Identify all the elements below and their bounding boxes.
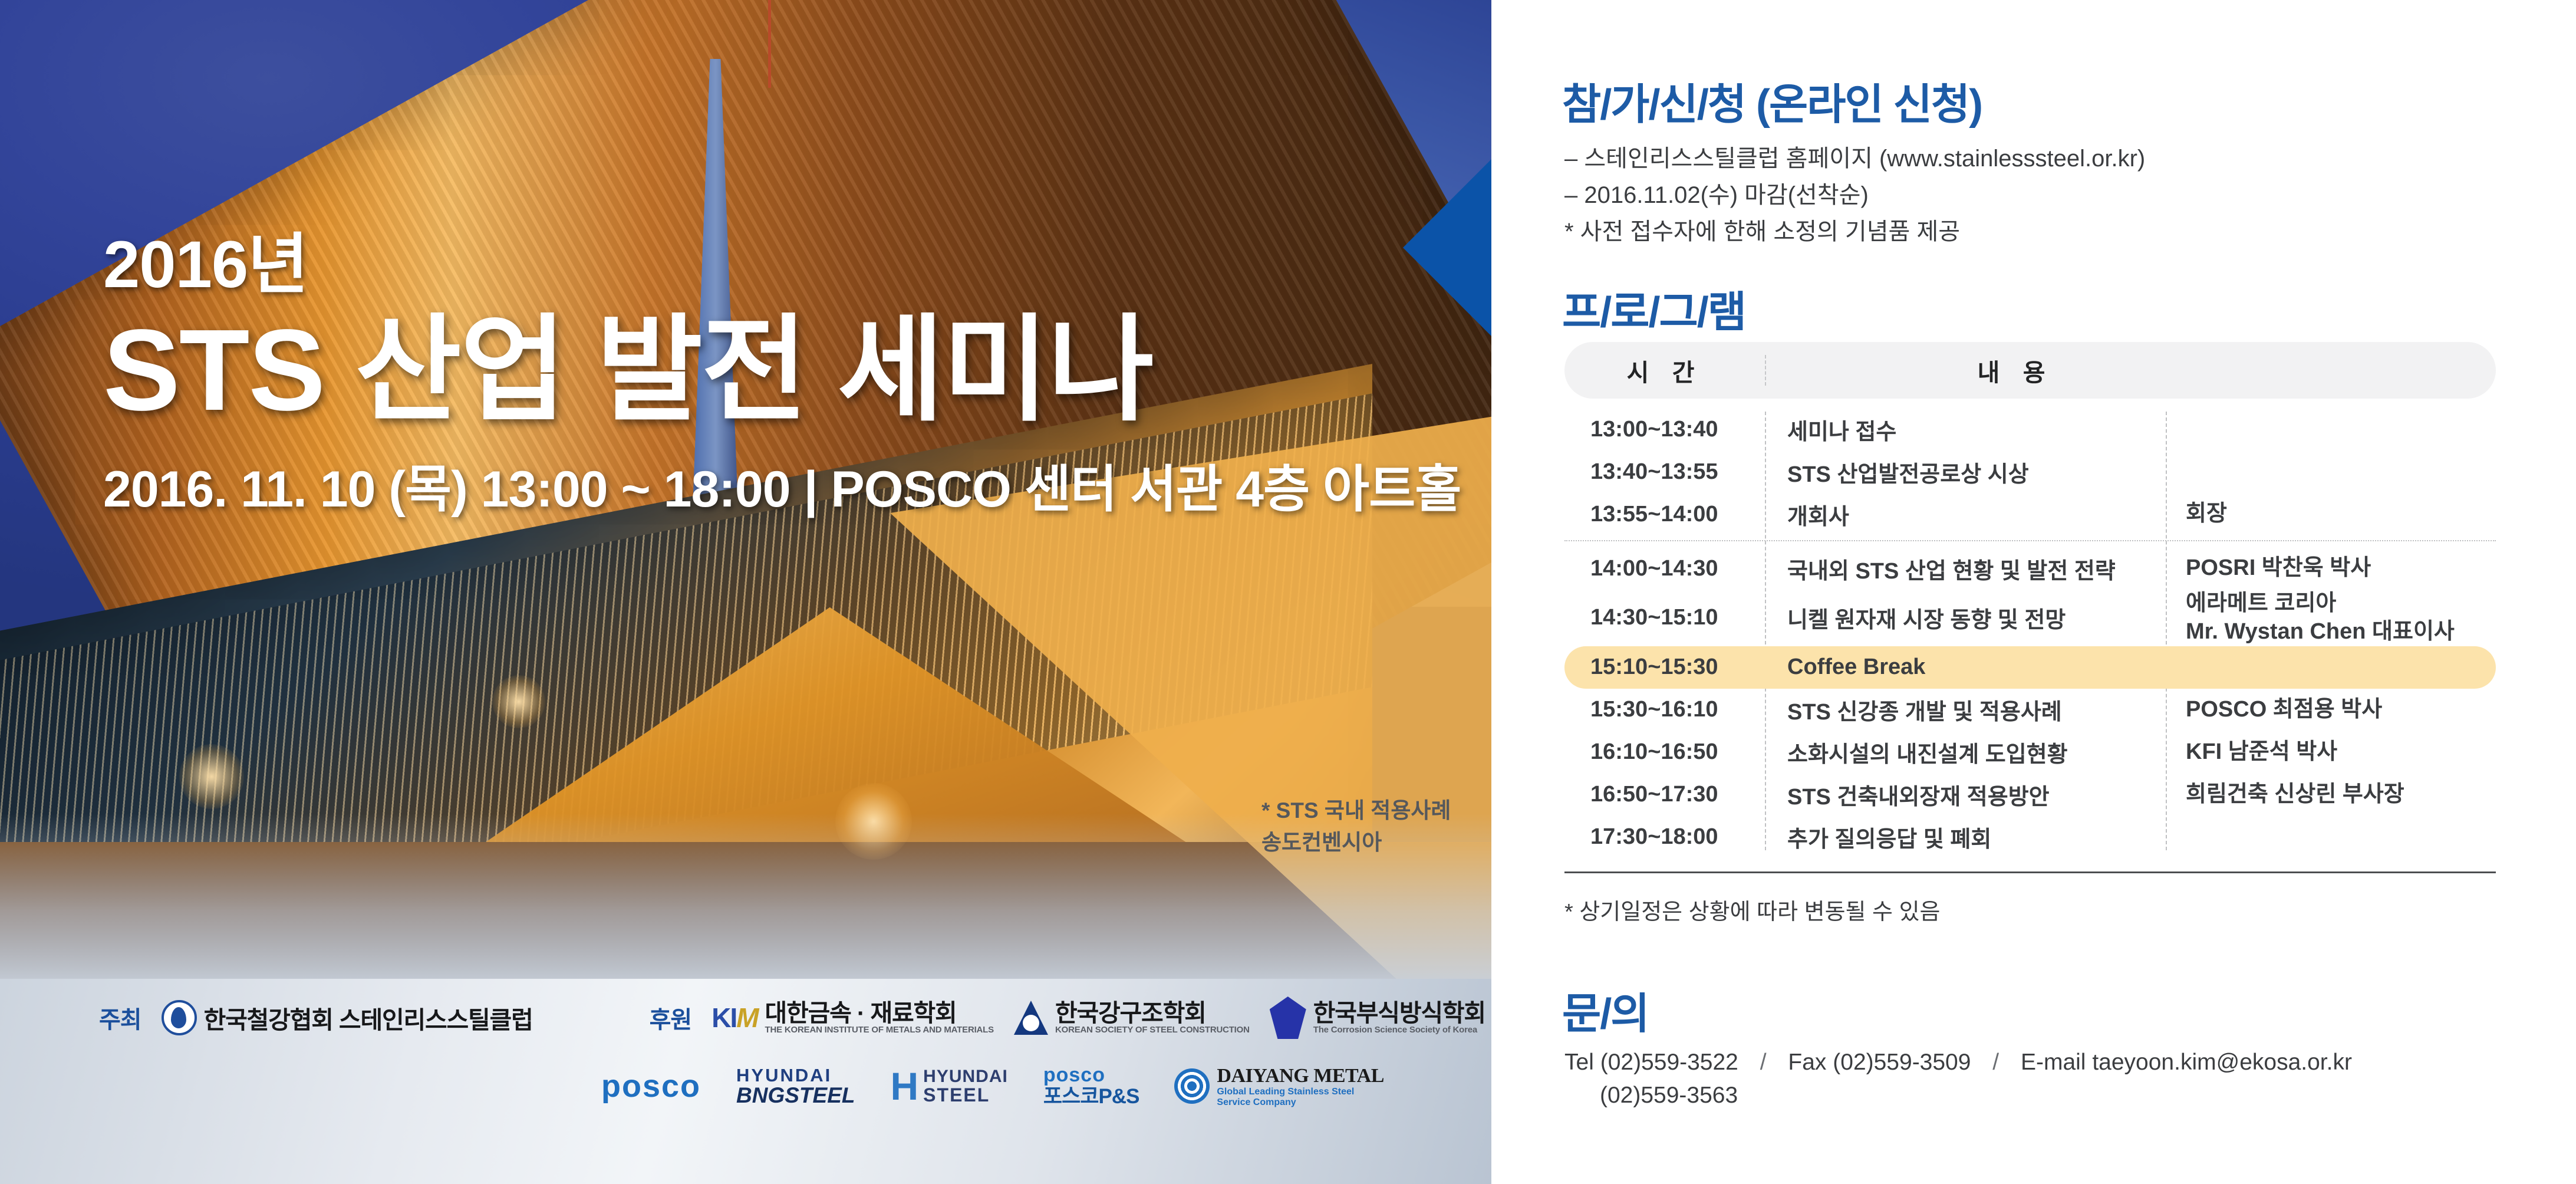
partner-posco-pns-logo: posco 포스코P&S (1043, 1065, 1139, 1107)
table-row: 13:40~13:55STS 산업발전공로상 시상 (1564, 450, 2496, 493)
photo-crane (768, 0, 771, 88)
row-speaker: POSCO 최점용 박사 (2166, 696, 2496, 724)
sponsor-section: 주최 한국철강협회 스테인리스스틸클럽 후원 KIM 대한금속 · 재료학회 T… (0, 996, 1491, 1107)
hero-year: 2016년 (103, 230, 1341, 300)
email-value[interactable]: taeyoon.kim@ekosa.or.kr (2092, 1050, 2352, 1075)
sponsor-row-organizers: 주최 한국철강협회 스테인리스스틸클럽 후원 KIM 대한금속 · 재료학회 T… (0, 996, 1491, 1039)
email-label: E-mail (2021, 1050, 2086, 1075)
column-header-content: 내 용 (1978, 359, 2054, 386)
program-table-bottom-rule (1564, 871, 2496, 873)
table-row: 15:10~15:30Coffee Break (1564, 646, 2496, 689)
row-topic: 소화시설의 내진설계 도입현황 (1765, 736, 2166, 768)
row-topic: 추가 질의응답 및 폐회 (1765, 821, 2166, 853)
table-row: 14:00~14:30국내외 STS 산업 현황 및 발전 전략POSRI 박찬… (1564, 547, 2496, 590)
partner-hyundai-bottom: STEEL (923, 1086, 1008, 1105)
column-header-time: 시 간 (1627, 359, 1703, 386)
photo-light-glow (179, 744, 244, 809)
partner-pns-bottom: 포스코P&S (1043, 1086, 1139, 1108)
row-time: 15:10~15:30 (1564, 655, 1765, 680)
kim-logo-icon: KIM (711, 1002, 757, 1034)
supporter-kim-name: 대한금속 · 재료학회 (765, 1001, 994, 1025)
tel-secondary-value: (02)559-3563 (1564, 1083, 2352, 1109)
hero-title-block: 2016년 STS 산업 발전 세미나 2016. 11. 10 (목) 13:… (103, 230, 1341, 521)
host-label: 주최 (99, 1001, 141, 1035)
row-topic: Coffee Break (1765, 655, 2166, 680)
photo-caption-line-2: 송도컨벤시아 (1261, 827, 1451, 859)
tel-value: (02)559-3522 (1600, 1050, 1738, 1075)
sponsor-row-partners: posco HYUNDAI BNGSTEEL H HYUNDAI STEEL p… (0, 1065, 1491, 1107)
partner-bng-bottom: BNGSTEEL (736, 1084, 855, 1106)
partner-hyundai-steel-logo: H HYUNDAI STEEL (891, 1068, 1008, 1105)
contact-heading: 문/의 (1562, 979, 1648, 1041)
row-time: 14:00~14:30 (1564, 556, 1765, 581)
info-panel: 참/가/신/청 (온라인 신청) – 스테인리스스틸클럽 홈페이지 (www.s… (1491, 0, 2576, 1184)
row-speaker: KFI 남준석 박사 (2166, 738, 2496, 767)
row-topic: 니켈 원자재 시장 동향 및 전망 (1765, 601, 2166, 634)
program-table-header: 시 간 내 용 (1564, 342, 2496, 399)
row-time: 13:00~13:40 (1564, 417, 1765, 442)
partner-posco-logo: posco (601, 1068, 701, 1104)
signup-bullet-2: – 2016.11.02(수) 마감(선착순) (1564, 177, 2145, 213)
contact-details: Tel (02)559-3522 / Fax (02)559-3509 / E-… (1564, 1050, 2352, 1109)
hero-subtitle: 2016. 11. 10 (목) 13:00 ~ 18:00 | POSCO 센… (103, 448, 1341, 521)
host-organization: 한국철강협회 스테인리스스틸클럽 (162, 1000, 533, 1035)
table-row: 13:55~14:00개회사회장 (1564, 493, 2496, 535)
hero-panel: 2016년 STS 산업 발전 세미나 2016. 11. 10 (목) 13:… (0, 0, 1491, 1184)
poster-root: 2016년 STS 산업 발전 세미나 2016. 11. 10 (목) 13:… (0, 0, 2576, 1184)
fax-value: (02)559-3509 (1833, 1050, 1971, 1075)
program-table: 시 간 내 용 13:00~13:40세미나 접수13:40~13:55STS … (1564, 342, 2496, 926)
hyundai-h-icon: H (891, 1070, 919, 1103)
partner-bng-top: HYUNDAI (736, 1066, 855, 1084)
partner-hyundai-top: HYUNDAI (923, 1068, 1008, 1086)
program-table-body: 13:00~13:40세미나 접수13:40~13:55STS 산업발전공로상 … (1564, 408, 2496, 859)
row-speaker: 희림건축 신상린 부사장 (2166, 781, 2496, 809)
fax-label: Fax (1788, 1050, 1826, 1075)
photo-light-glow (492, 675, 545, 728)
row-speaker: 회장 (2166, 500, 2496, 528)
contact-primary-line: Tel (02)559-3522 / Fax (02)559-3509 / E-… (1564, 1050, 2352, 1076)
row-time: 16:50~17:30 (1564, 782, 1765, 807)
supporter-cssk-name: 한국부식방식학회 (1313, 1001, 1485, 1025)
kssc-triangle-icon (1014, 1001, 1048, 1035)
supporter-kim-name-en: THE KOREAN INSTITUTE OF METALS AND MATER… (765, 1025, 994, 1034)
row-separator (1564, 540, 2496, 541)
support-label: 후원 (650, 1001, 692, 1035)
row-topic: STS 신강종 개발 및 적용사례 (1765, 693, 2166, 726)
signup-bullet-1: – 스테인리스스틸클럽 홈페이지 (www.stainlesssteel.or.… (1564, 140, 2145, 177)
cssk-diamond-icon (1270, 996, 1306, 1039)
tel-label: Tel (1564, 1050, 1594, 1075)
photo-caption: * STS 국내 적용사례 송도컨벤시아 (1261, 795, 1451, 858)
daiyang-target-icon (1174, 1068, 1210, 1104)
partner-bng-steel-logo: HYUNDAI BNGSTEEL (736, 1066, 855, 1106)
partner-pns-top: posco (1043, 1065, 1139, 1086)
row-topic: STS 건축내외장재 적용방안 (1765, 778, 2166, 811)
supporter-kssc: 한국강구조학회 KOREAN SOCIETY OF STEEL CONSTRUC… (1014, 1001, 1250, 1035)
row-topic: 개회사 (1765, 498, 2166, 531)
row-speaker: 에라메트 코리아Mr. Wystan Chen 대표이사 (2166, 590, 2496, 646)
row-time: 16:10~16:50 (1564, 739, 1765, 765)
partner-daiyang-name: DAIYANG METAL (1217, 1065, 1383, 1087)
supporter-kssc-name-en: KOREAN SOCIETY OF STEEL CONSTRUCTION (1055, 1025, 1250, 1034)
signup-note: * 사전 접수자에 한해 소정의 기념품 제공 (1564, 212, 1960, 246)
photo-caption-line-1: * STS 국내 적용사례 (1261, 795, 1451, 827)
table-row: 13:00~13:40세미나 접수 (1564, 408, 2496, 450)
program-heading: 프/로/그/램 (1562, 277, 1745, 339)
contact-separator-2: / (1977, 1050, 2014, 1075)
supporter-cssk: 한국부식방식학회 The Corrosion Science Society o… (1270, 996, 1485, 1039)
partner-daiyang-sub-1: Global Leading Stainless Steel (1217, 1087, 1383, 1097)
table-row: 14:30~15:10니켈 원자재 시장 동향 및 전망에라메트 코리아Mr. … (1564, 590, 2496, 646)
table-row: 16:50~17:30STS 건축내외장재 적용방안희림건축 신상린 부사장 (1564, 774, 2496, 816)
row-time: 13:55~14:00 (1564, 502, 1765, 527)
table-row: 16:10~16:50소화시설의 내진설계 도입현황KFI 남준석 박사 (1564, 731, 2496, 774)
signup-heading: 참/가/신/청 (온라인 신청) (1562, 70, 1982, 131)
partner-daiyang-metal-logo: DAIYANG METAL Global Leading Stainless S… (1174, 1065, 1383, 1107)
row-time: 17:30~18:00 (1564, 824, 1765, 850)
program-note: * 상기일정은 상황에 따라 변동될 수 있음 (1564, 893, 2496, 926)
row-speaker: POSRI 박찬욱 박사 (2166, 554, 2496, 583)
table-row: 15:30~16:10STS 신강종 개발 및 적용사례POSCO 최점용 박사 (1564, 689, 2496, 731)
kosa-seal-icon (162, 1000, 197, 1035)
supporter-kssc-name: 한국강구조학회 (1055, 1001, 1250, 1025)
supporter-kim: KIM 대한금속 · 재료학회 THE KOREAN INSTITUTE OF … (711, 1001, 994, 1034)
table-row: 17:30~18:00추가 질의응답 및 폐회 (1564, 816, 2496, 859)
host-name: 한국철강협회 스테인리스스틸클럽 (204, 1000, 533, 1035)
partner-daiyang-sub-2: Service Company (1217, 1097, 1383, 1107)
row-time: 15:30~16:10 (1564, 697, 1765, 722)
signup-bullets: – 스테인리스스틸클럽 홈페이지 (www.stainlesssteel.or.… (1564, 140, 2145, 213)
row-topic: 세미나 접수 (1765, 413, 2166, 446)
row-topic: STS 산업발전공로상 시상 (1765, 456, 2166, 488)
supporter-cssk-name-en: The Corrosion Science Society of Korea (1313, 1025, 1485, 1034)
row-time: 14:30~15:10 (1564, 605, 1765, 630)
contact-separator-1: / (1745, 1050, 1782, 1075)
header-divider (1765, 355, 1766, 386)
row-topic: 국내외 STS 산업 현황 및 발전 전략 (1765, 552, 2166, 585)
row-time: 13:40~13:55 (1564, 459, 1765, 485)
page-title: STS 산업 발전 세미나 (103, 308, 1341, 433)
